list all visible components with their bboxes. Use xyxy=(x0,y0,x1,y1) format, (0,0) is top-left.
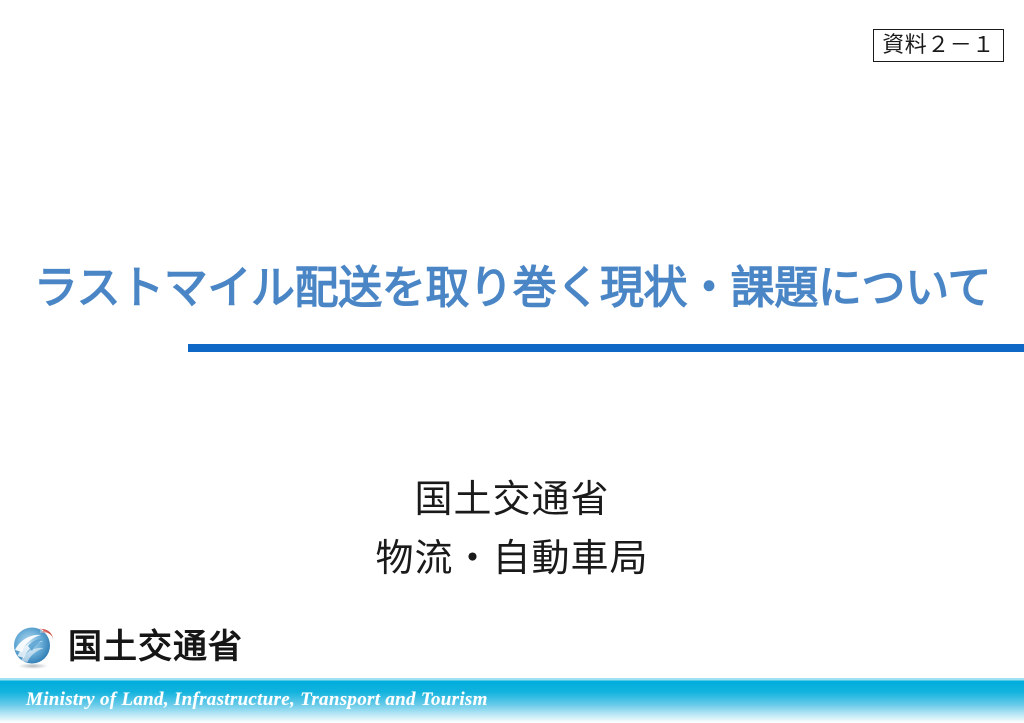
footer-gradient-band: Ministry of Land, Infrastructure, Transp… xyxy=(0,678,1024,723)
footer-brand: 国土交通省 xyxy=(8,622,243,672)
presentation-slide: 資料２－１ ラストマイル配送を取り巻く現状・課題について 国土交通省 物流・自動… xyxy=(0,0,1024,723)
organization-ministry-name: 国土交通省 xyxy=(0,473,1024,526)
organization-bureau-name: 物流・自動車局 xyxy=(0,532,1024,585)
page-title: ラストマイル配送を取り巻く現状・課題について xyxy=(33,263,990,313)
mlit-swirl-logo-icon xyxy=(8,622,58,672)
title-underline-rule xyxy=(188,344,1024,352)
document-number-box: 資料２－１ xyxy=(873,29,1004,62)
footer-english-name: Ministry of Land, Infrastructure, Transp… xyxy=(26,689,488,711)
organization-block: 国土交通省 物流・自動車局 xyxy=(0,473,1024,585)
footer-brand-name: 国土交通省 xyxy=(68,630,243,664)
document-number-label: 資料２－１ xyxy=(882,35,995,57)
slide-title-block: ラストマイル配送を取り巻く現状・課題について xyxy=(0,252,1024,324)
slide-footer: 国土交通省 Ministry of Land, Infrastructure, … xyxy=(0,620,1024,723)
